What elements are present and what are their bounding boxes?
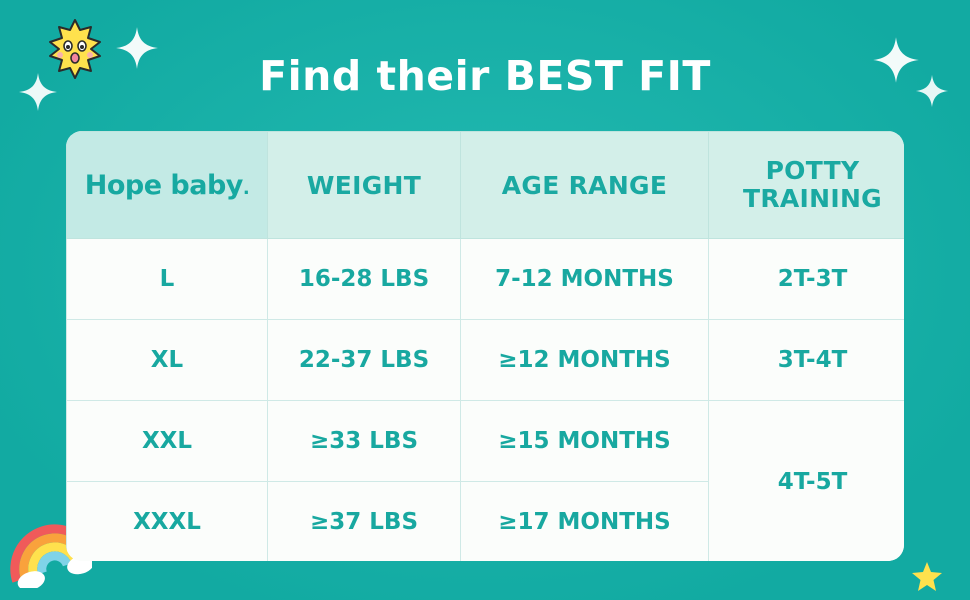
brand-logo-cell: Hope baby. bbox=[67, 132, 268, 239]
best-fit-size-chart: Find their BEST FIT Hope baby. WEIGHT AG… bbox=[0, 0, 970, 600]
potty-training-line-1: POTTY bbox=[710, 157, 904, 185]
column-header-potty-training: POTTY TRAINING bbox=[709, 132, 905, 239]
potty-training-line-2: TRAINING bbox=[710, 185, 904, 213]
age-cell: ≥12 MONTHS bbox=[461, 320, 709, 401]
brand-name: Hope baby bbox=[85, 170, 243, 201]
table-row: XXL ≥33 LBS ≥15 MONTHS 4T-5T bbox=[67, 401, 905, 482]
size-cell: L bbox=[67, 239, 268, 320]
table-row: L 16-28 LBS 7-12 MONTHS 2T-3T bbox=[67, 239, 905, 320]
weight-cell: ≥33 LBS bbox=[268, 401, 461, 482]
potty-cell: 2T-3T bbox=[709, 239, 905, 320]
column-header-age-range: AGE RANGE bbox=[461, 132, 709, 239]
age-cell: ≥17 MONTHS bbox=[461, 482, 709, 562]
weight-cell: 22-37 LBS bbox=[268, 320, 461, 401]
age-cell: ≥15 MONTHS bbox=[461, 401, 709, 482]
size-cell: XXL bbox=[67, 401, 268, 482]
table-row: XL 22-37 LBS ≥12 MONTHS 3T-4T bbox=[67, 320, 905, 401]
column-header-weight: WEIGHT bbox=[268, 132, 461, 239]
potty-cell: 3T-4T bbox=[709, 320, 905, 401]
brand-dot: . bbox=[243, 178, 249, 199]
weight-cell: 16-28 LBS bbox=[268, 239, 461, 320]
page-title: Find their BEST FIT bbox=[0, 52, 970, 100]
star-icon bbox=[910, 560, 944, 594]
table-header-row: Hope baby. WEIGHT AGE RANGE POTTY TRAINI… bbox=[67, 132, 905, 239]
potty-cell-merged: 4T-5T bbox=[709, 401, 905, 562]
size-chart-card: Hope baby. WEIGHT AGE RANGE POTTY TRAINI… bbox=[66, 131, 904, 561]
weight-cell: ≥37 LBS bbox=[268, 482, 461, 562]
age-cell: 7-12 MONTHS bbox=[461, 239, 709, 320]
size-cell: XL bbox=[67, 320, 268, 401]
size-chart-table: Hope baby. WEIGHT AGE RANGE POTTY TRAINI… bbox=[66, 131, 904, 561]
size-cell: XXXL bbox=[67, 482, 268, 562]
